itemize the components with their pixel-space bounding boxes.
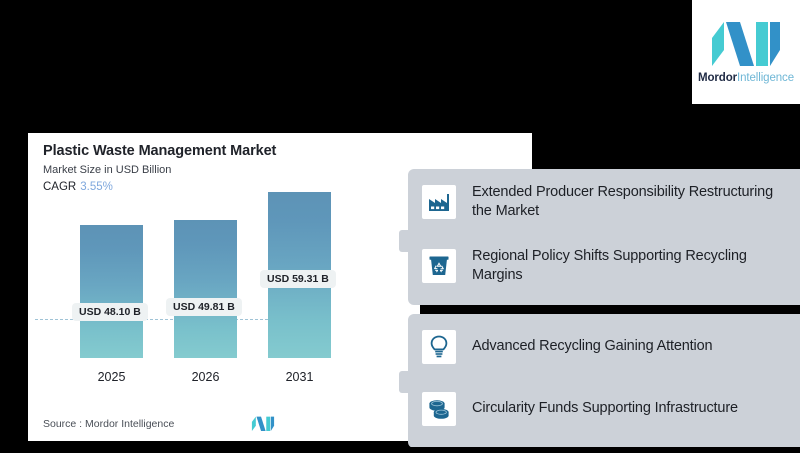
brand-logo-text: MordorIntelligence bbox=[698, 73, 794, 85]
cagr-row: CAGR3.55% bbox=[43, 181, 113, 193]
mordor-m-mark-icon bbox=[250, 416, 276, 431]
insight-item-circularity-funds[interactable]: Circularity Funds Supporting Infrastruct… bbox=[422, 392, 738, 426]
x-axis-label-2031: 2031 bbox=[268, 370, 331, 384]
bar-2026 bbox=[174, 220, 237, 358]
insight-item-label: Regional Policy Shifts Supporting Recycl… bbox=[472, 247, 782, 285]
panel-notch-bottom bbox=[399, 371, 408, 393]
x-axis-label-2026: 2026 bbox=[174, 370, 237, 384]
insight-item-regional-policy-shifts[interactable]: Regional Policy Shifts Supporting Recycl… bbox=[422, 247, 782, 285]
insight-item-label: Advanced Recycling Gaining Attention bbox=[472, 337, 712, 356]
chart-subtitle: Market Size in USD Billion bbox=[43, 164, 171, 176]
insight-item-label: Circularity Funds Supporting Infrastruct… bbox=[472, 399, 738, 418]
chart-title: Plastic Waste Management Market bbox=[43, 143, 276, 159]
brand-name-bold: Mordor bbox=[698, 72, 737, 84]
mordor-m-logo-icon bbox=[710, 20, 782, 66]
bar-value-label-2026: USD 49.81 B bbox=[166, 298, 242, 316]
panel-notch-top bbox=[399, 230, 408, 252]
insight-item-extended-producer-responsibility[interactable]: Extended Producer Responsibility Restruc… bbox=[422, 183, 782, 221]
insight-panel-1: Extended Producer Responsibility Restruc… bbox=[408, 169, 800, 305]
brand-logo-panel: MordorIntelligence bbox=[692, 0, 800, 104]
cagr-label: CAGR bbox=[43, 181, 76, 193]
coins-stack-icon bbox=[422, 392, 456, 426]
bar-value-label-2031: USD 59.31 B bbox=[260, 270, 336, 288]
bar-chart-plot-area: USD 48.10 B USD 49.81 B USD 59.31 B 2025… bbox=[28, 195, 420, 396]
insight-panel-2: Advanced Recycling Gaining Attention Cir… bbox=[408, 314, 800, 448]
recycle-bin-icon bbox=[422, 249, 456, 283]
bar-value-label-2025: USD 48.10 B bbox=[72, 303, 148, 321]
insight-item-advanced-recycling[interactable]: Advanced Recycling Gaining Attention bbox=[422, 330, 712, 364]
insight-item-label: Extended Producer Responsibility Restruc… bbox=[472, 183, 782, 221]
factory-icon bbox=[422, 185, 456, 219]
bar-2025 bbox=[80, 225, 143, 358]
lightbulb-icon bbox=[422, 330, 456, 364]
chart-source-text: Source : Mordor Intelligence bbox=[43, 418, 174, 430]
chart-card: Plastic Waste Management Market Market S… bbox=[28, 133, 420, 441]
x-axis-label-2025: 2025 bbox=[80, 370, 143, 384]
bottom-strip bbox=[0, 447, 800, 453]
brand-name-light: Intelligence bbox=[737, 72, 794, 84]
cagr-value: 3.55% bbox=[80, 181, 113, 193]
